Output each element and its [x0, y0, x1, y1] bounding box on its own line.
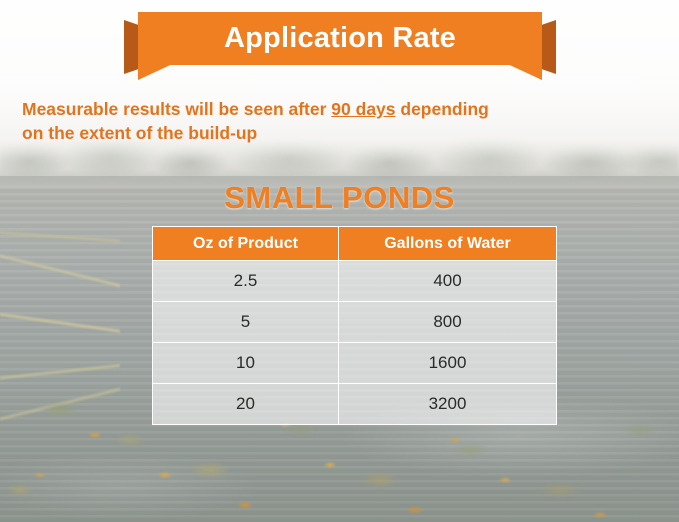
column-header-gallons: Gallons of Water [339, 227, 557, 261]
column-header-oz: Oz of Product [153, 227, 339, 261]
cell-oz: 5 [153, 302, 339, 343]
cell-oz: 2.5 [153, 261, 339, 302]
subtitle-line2: on the extent of the build-up [22, 123, 257, 143]
cell-oz: 20 [153, 384, 339, 425]
subtitle-line1-after: depending [396, 99, 489, 119]
page-title: Application Rate [224, 24, 456, 53]
title-banner: Application Rate [124, 12, 556, 80]
cell-gallons: 400 [339, 261, 557, 302]
rate-table-wrapper: Oz of Product Gallons of Water 2.5 400 5… [152, 226, 556, 425]
section-heading: SMALL PONDS [0, 180, 679, 216]
table-row: 5 800 [153, 302, 557, 343]
subtitle-text: Measurable results will be seen after 90… [22, 98, 662, 145]
application-rate-table: Oz of Product Gallons of Water 2.5 400 5… [152, 226, 557, 425]
table-header-row: Oz of Product Gallons of Water [153, 227, 557, 261]
cell-oz: 10 [153, 343, 339, 384]
subtitle-line1-underlined: 90 days [331, 99, 395, 119]
table-row: 10 1600 [153, 343, 557, 384]
banner-body: Application Rate [138, 12, 542, 80]
subtitle-line1-before: Measurable results will be seen after [22, 99, 331, 119]
cell-gallons: 800 [339, 302, 557, 343]
table-row: 2.5 400 [153, 261, 557, 302]
cell-gallons: 3200 [339, 384, 557, 425]
cell-gallons: 1600 [339, 343, 557, 384]
application-rate-infographic: Application Rate Measurable results will… [0, 0, 679, 522]
table-row: 20 3200 [153, 384, 557, 425]
